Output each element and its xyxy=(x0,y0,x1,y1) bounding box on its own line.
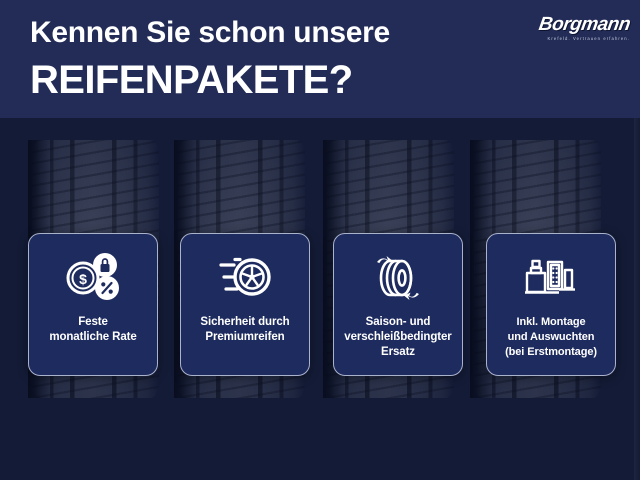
wheel-speed-icon xyxy=(209,248,281,306)
promo-banner: Kennen Sie schon unsere REIFENPAKETE? Bo… xyxy=(0,0,640,480)
benefit-label-line-1: Sicherheit durch xyxy=(200,316,289,328)
tire-stack-exchange-icon xyxy=(362,248,434,306)
borgmann-logo[interactable]: Borgmann Krefeld. Vertrauen erfahren. xyxy=(520,14,630,48)
benefit-card-label: Feste monatliche Rate xyxy=(32,315,154,345)
benefit-card-label: Inkl. Montage und Auswuchten (bei Erstmo… xyxy=(490,315,612,360)
benefit-card-label: Sicherheit durch Premiumreifen xyxy=(184,315,306,345)
svg-text:$: $ xyxy=(79,271,87,287)
headline-line-2: REIFENPAKETE? xyxy=(30,58,353,103)
benefit-label-line-2: monatliche Rate xyxy=(49,331,136,343)
benefit-label-line-2: und Auswuchten xyxy=(508,331,595,343)
coin-lock-percent-icon: $ xyxy=(57,248,129,306)
benefit-label-line-3: Ersatz xyxy=(381,346,415,358)
benefit-label-line-2: verschleißbedingter xyxy=(344,331,451,343)
banner-header: Kennen Sie schon unsere REIFENPAKETE? Bo… xyxy=(0,0,640,118)
benefit-label-line-3: (bei Erstmontage) xyxy=(505,346,597,358)
benefit-card-mounting-balancing[interactable]: Inkl. Montage und Auswuchten (bei Erstmo… xyxy=(486,233,616,376)
benefit-card-label: Saison- und verschleißbedingter Ersatz xyxy=(337,315,459,360)
benefit-label-line-1: Inkl. Montage xyxy=(517,316,586,328)
benefit-card-fixed-rate[interactable]: $ Feste monatliche Rate xyxy=(28,233,158,376)
logo-wordmark: Borgmann xyxy=(518,14,631,35)
banner-body: $ Feste monatliche Rate xyxy=(0,118,640,480)
benefit-card-premium-tires[interactable]: Sicherheit durch Premiumreifen xyxy=(180,233,310,376)
benefit-label-line-2: Premiumreifen xyxy=(205,331,284,343)
benefit-label-line-1: Saison- und xyxy=(366,316,431,328)
benefit-card-seasonal-replacement[interactable]: Saison- und verschleißbedingter Ersatz xyxy=(333,233,463,376)
tire-mounting-machine-icon xyxy=(515,248,587,306)
logo-tagline: Krefeld. Vertrauen erfahren. xyxy=(520,36,630,42)
benefit-label-line-1: Feste xyxy=(78,316,108,328)
headline-line-1: Kennen Sie schon unsere xyxy=(30,16,390,50)
